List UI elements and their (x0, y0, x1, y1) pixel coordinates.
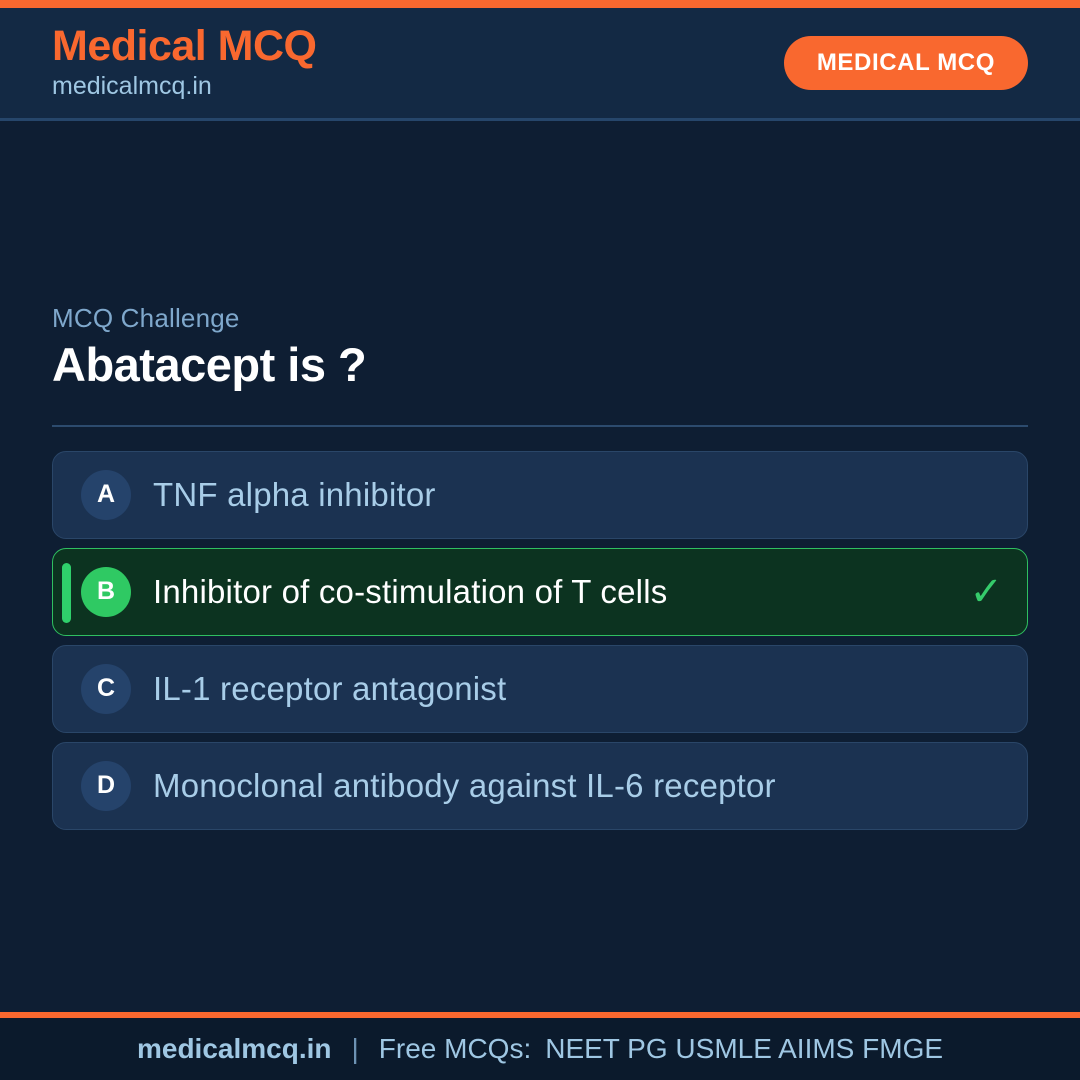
correct-check-icon: ✓ (959, 572, 1003, 612)
mcq-card: Medical MCQ medicalmcq.in MEDICAL MCQ MC… (0, 0, 1080, 1080)
option-text: IL-1 receptor antagonist (153, 670, 959, 708)
option-a[interactable]: A TNF alpha inhibitor (52, 451, 1028, 539)
brand-title: Medical MCQ (52, 24, 317, 69)
footer-bar: medicalmcq.in | Free MCQs: NEET PG USMLE… (0, 1018, 1080, 1080)
option-c[interactable]: C IL-1 receptor antagonist (52, 645, 1028, 733)
options-list: A TNF alpha inhibitor B Inhibitor of co-… (52, 451, 1028, 830)
footer-separator: | (331, 1033, 378, 1065)
option-d[interactable]: D Monoclonal antibody against IL-6 recep… (52, 742, 1028, 830)
option-letter: D (81, 761, 131, 811)
eyebrow-label: MCQ Challenge (52, 303, 1028, 334)
brand-subtitle: medicalmcq.in (52, 71, 317, 102)
top-accent-stripe (0, 0, 1080, 8)
correct-accent-bar (62, 563, 71, 623)
option-text: Monoclonal antibody against IL-6 recepto… (153, 767, 959, 805)
footer-exams-list: NEET PG USMLE AIIMS FMGE (531, 1033, 943, 1065)
footer-exams-label: Free MCQs: (379, 1033, 531, 1065)
question-area: MCQ Challenge Abatacept is ? A TNF alpha… (0, 121, 1080, 1012)
brand-badge: MEDICAL MCQ (784, 36, 1028, 90)
option-letter: A (81, 470, 131, 520)
footer-site-link[interactable]: medicalmcq.in (137, 1033, 332, 1065)
option-text: TNF alpha inhibitor (153, 476, 959, 514)
header-bar: Medical MCQ medicalmcq.in MEDICAL MCQ (0, 8, 1080, 121)
option-text: Inhibitor of co-stimulation of T cells (153, 573, 959, 611)
question-text: Abatacept is ? (52, 338, 1028, 392)
option-b[interactable]: B Inhibitor of co-stimulation of T cells… (52, 548, 1028, 636)
option-letter: C (81, 664, 131, 714)
brand-block: Medical MCQ medicalmcq.in (52, 24, 317, 102)
option-letter: B (81, 567, 131, 617)
question-divider (52, 425, 1028, 427)
